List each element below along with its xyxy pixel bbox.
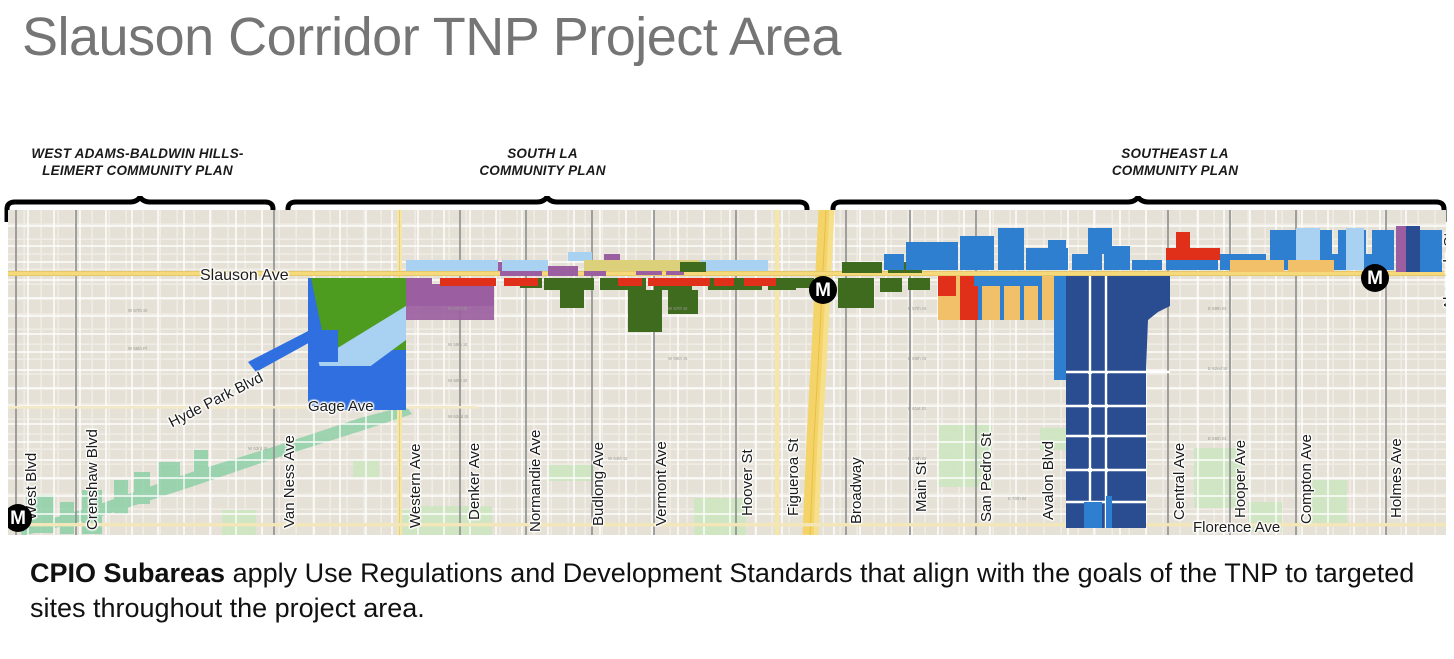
map-basemap: W 57th StW 59th Pl W 57th StW 59th St W …: [8, 210, 1446, 535]
community-plan-label-south-la: SOUTH LA COMMUNITY PLAN: [370, 146, 715, 180]
metro-logo-icon: M: [815, 281, 831, 300]
metro-logo-icon: M: [10, 509, 26, 528]
svg-text:W 57th St: W 57th St: [448, 306, 468, 311]
svg-text:E 66th St: E 66th St: [1208, 436, 1227, 441]
metro-station-marker-east[interactable]: M: [1361, 264, 1389, 292]
svg-text:E 64th St: E 64th St: [908, 456, 927, 461]
svg-text:E 57th St: E 57th St: [908, 306, 927, 311]
svg-text:W 59th St: W 59th St: [668, 356, 688, 361]
metro-station-marker-central[interactable]: M: [809, 276, 837, 304]
svg-text:E 70th St: E 70th St: [1008, 496, 1027, 501]
svg-text:E 61st St: E 61st St: [908, 406, 927, 411]
svg-text:W 64th St: W 64th St: [608, 456, 628, 461]
svg-text:E 59th St: E 59th St: [1208, 306, 1227, 311]
metro-logo-icon: M: [1367, 269, 1383, 288]
page-title: Slauson Corridor TNP Project Area: [22, 6, 841, 68]
svg-text:W 59th Pl: W 59th Pl: [128, 346, 147, 351]
svg-text:E 62nd St: E 62nd St: [1208, 366, 1228, 371]
svg-text:W 57th St: W 57th St: [668, 306, 688, 311]
svg-text:W 63rd St: W 63rd St: [248, 446, 268, 451]
project-area-map[interactable]: W 57th StW 59th Pl W 57th StW 59th St W …: [8, 210, 1446, 535]
svg-text:W 60th St: W 60th St: [448, 378, 468, 383]
caption-lead: CPIO Subareas: [30, 558, 225, 588]
community-plan-label-west-adams: WEST ADAMS-BALDWIN HILLS- LEIMERT COMMUN…: [0, 146, 275, 180]
caption-rest: apply Use Regulations and Development St…: [30, 558, 1414, 623]
svg-text:W 59th St: W 59th St: [448, 342, 468, 347]
svg-text:E 59th St: E 59th St: [908, 356, 927, 361]
caption: CPIO Subareas apply Use Regulations and …: [30, 556, 1440, 625]
svg-text:W 57th St: W 57th St: [128, 308, 148, 313]
community-plan-label-southeast-la: SOUTHEAST LA COMMUNITY PLAN: [980, 146, 1370, 180]
svg-text:W 62nd St: W 62nd St: [448, 414, 469, 419]
